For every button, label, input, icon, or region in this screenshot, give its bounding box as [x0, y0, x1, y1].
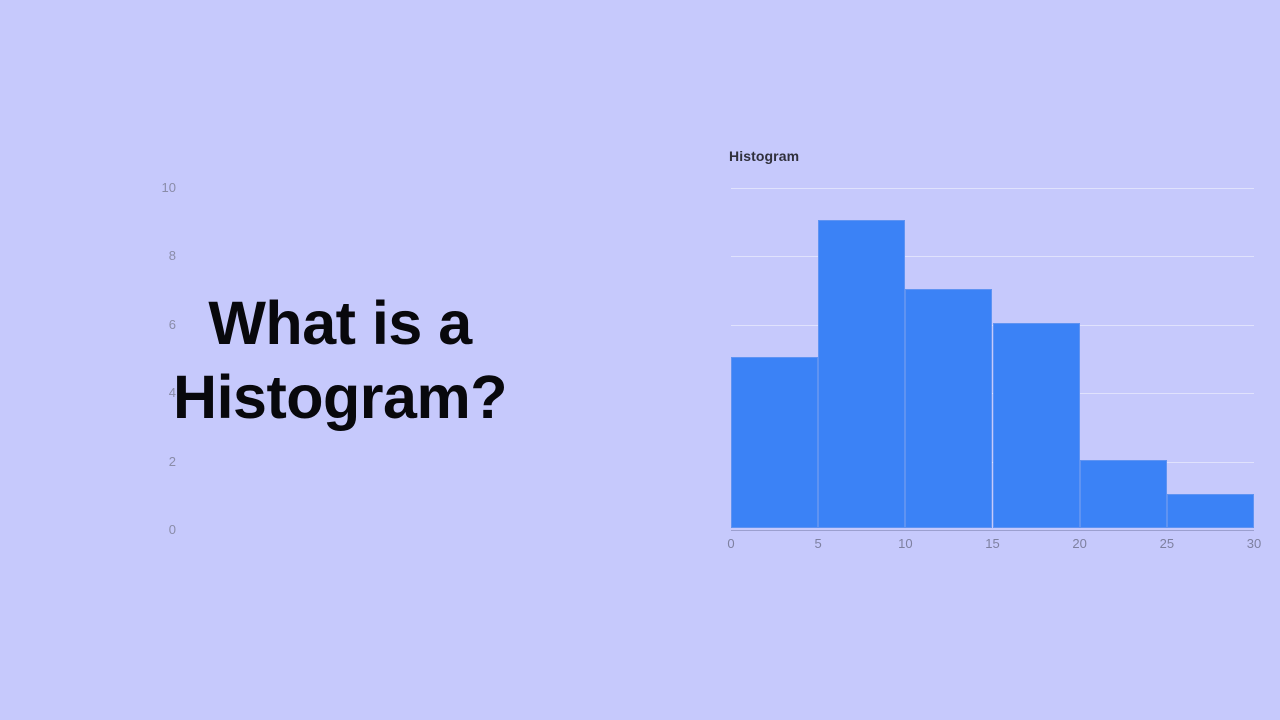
y-axis-tick-label: 10 — [136, 180, 176, 195]
histogram-bar — [1167, 494, 1254, 528]
x-axis-tick-label: 5 — [798, 536, 838, 551]
y-axis-tick-label: 2 — [136, 454, 176, 469]
histogram-bar — [818, 220, 905, 528]
x-axis-tick-label: 10 — [885, 536, 925, 551]
x-axis-tick-label: 25 — [1147, 536, 1187, 551]
histogram-bar — [905, 289, 992, 528]
histogram-chart: Histogram 0246810 051015202530 — [696, 140, 1260, 558]
x-axis-tick-label: 30 — [1234, 536, 1274, 551]
y-axis-tick-label: 6 — [136, 317, 176, 332]
y-axis-tick-label: 4 — [136, 385, 176, 400]
plot-area: 0246810 051015202530 — [696, 140, 1260, 558]
histogram-bar — [1080, 460, 1167, 528]
x-axis-tick-label: 0 — [711, 536, 751, 551]
slide-canvas: What is a Histogram? Histogram 0246810 0… — [0, 0, 1280, 720]
y-axis-tick-labels: 0246810 — [172, 140, 732, 558]
gridline — [731, 188, 1254, 189]
x-axis-tick-label: 15 — [973, 536, 1013, 551]
histogram-bar — [993, 323, 1080, 528]
histogram-bar — [731, 357, 818, 528]
x-axis-baseline — [731, 530, 1254, 531]
gridline — [731, 256, 1254, 257]
y-axis-tick-label: 8 — [136, 248, 176, 263]
y-axis-tick-label: 0 — [136, 522, 176, 537]
x-axis-tick-label: 20 — [1060, 536, 1100, 551]
